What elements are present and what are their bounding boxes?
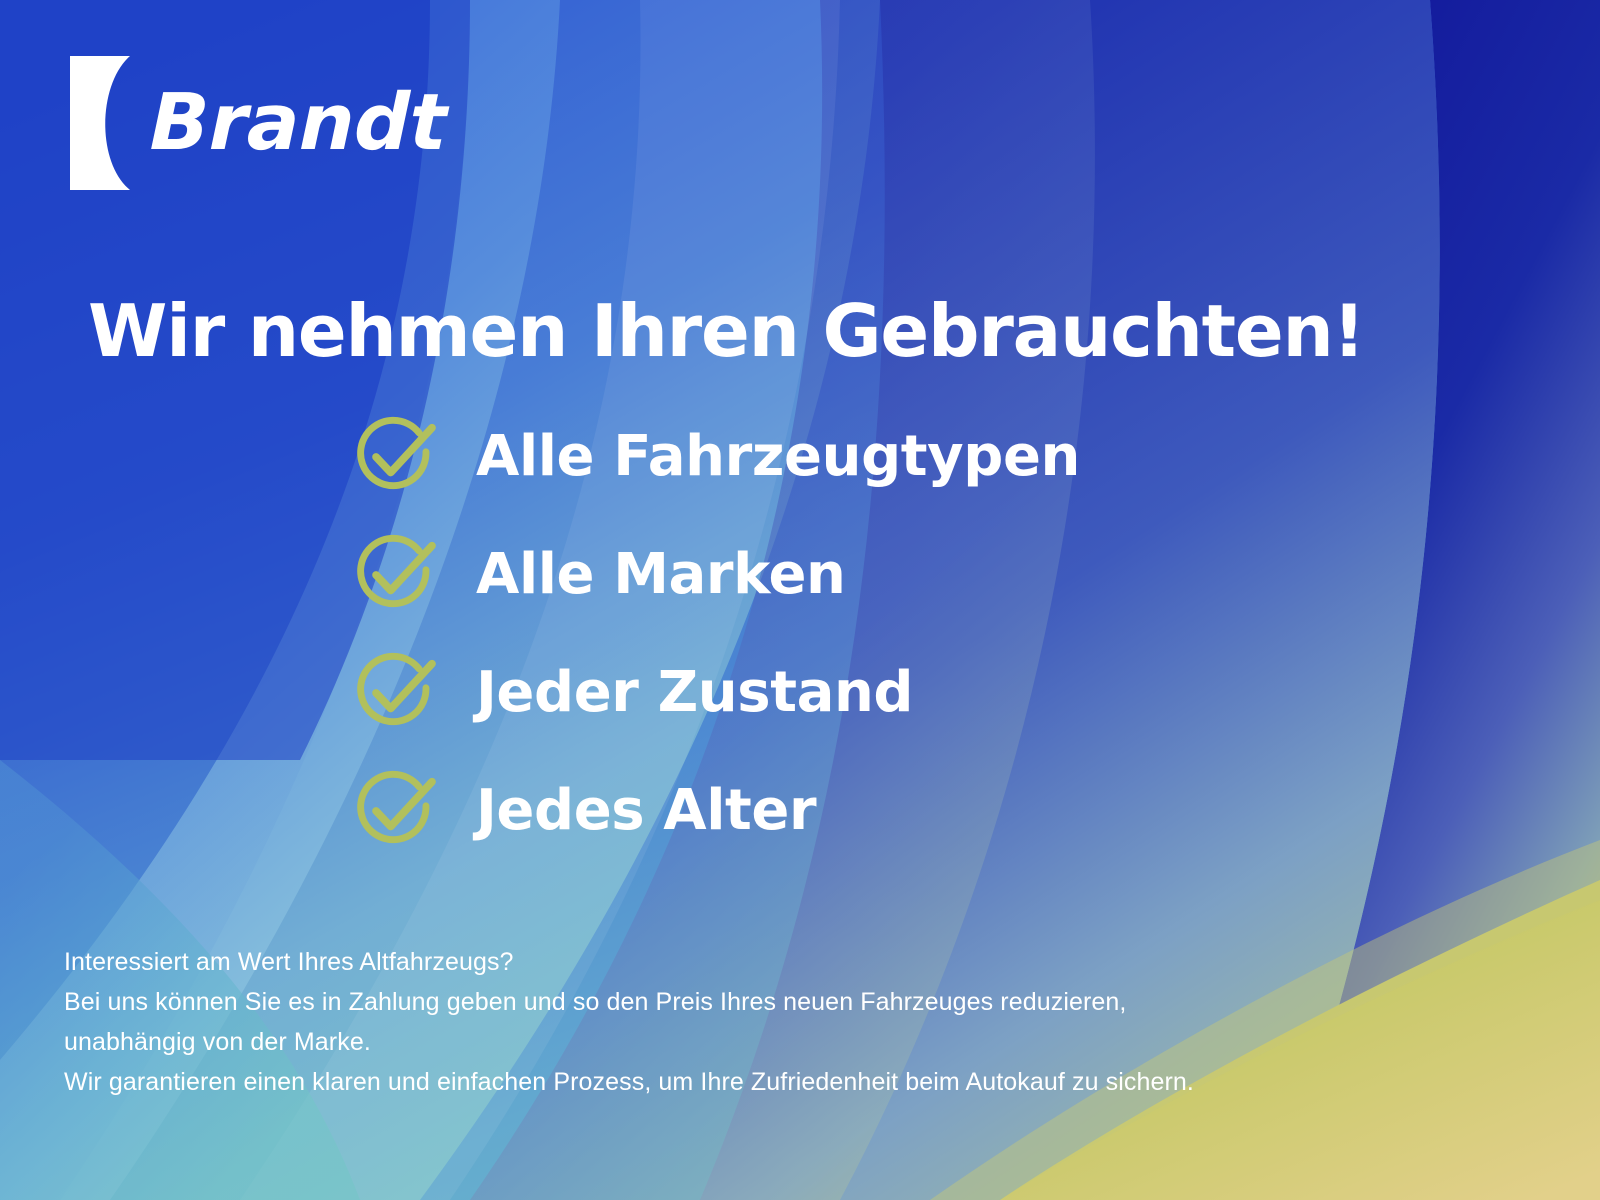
- list-item-label: Alle Fahrzeugtypen: [476, 429, 1080, 485]
- footer-line-4: Wir garantieren einen klaren und einfach…: [64, 1062, 1484, 1102]
- list-item: Alle Fahrzeugtypen: [352, 398, 1252, 516]
- list-item-label: Jedes Alter: [476, 783, 816, 839]
- banner-content: Brandt Wir nehmen Ihren Gebrauchten! All…: [0, 0, 1600, 1200]
- list-item: Alle Marken: [352, 516, 1252, 634]
- list-item-label: Alle Marken: [476, 547, 846, 603]
- check-circle-icon: [352, 768, 438, 854]
- page-title: Wir nehmen Ihren Gebrauchten!: [88, 294, 1364, 370]
- check-circle-icon: [352, 650, 438, 736]
- check-circle-icon: [352, 532, 438, 618]
- brandt-logo: Brandt: [68, 50, 446, 195]
- list-item-label: Jeder Zustand: [476, 665, 913, 721]
- footer-line-1: Interessiert am Wert Ihres Altfahrzeugs?: [64, 942, 1484, 982]
- brandt-wordmark: Brandt: [149, 84, 447, 162]
- footer-line-3: unabhängig von der Marke.: [64, 1022, 1484, 1062]
- footer-line-2: Bei uns können Sie es in Zahlung geben u…: [64, 982, 1484, 1022]
- promo-banner: Brandt Wir nehmen Ihren Gebrauchten! All…: [0, 0, 1600, 1200]
- brandt-crescent-mark-icon: [68, 54, 146, 192]
- list-item: Jeder Zustand: [352, 634, 1252, 752]
- footer-description: Interessiert am Wert Ihres Altfahrzeugs?…: [64, 942, 1484, 1102]
- list-item: Jedes Alter: [352, 752, 1252, 870]
- check-circle-icon: [352, 414, 438, 500]
- feature-list: Alle Fahrzeugtypen Alle Marken Jeder Zus…: [352, 398, 1252, 870]
